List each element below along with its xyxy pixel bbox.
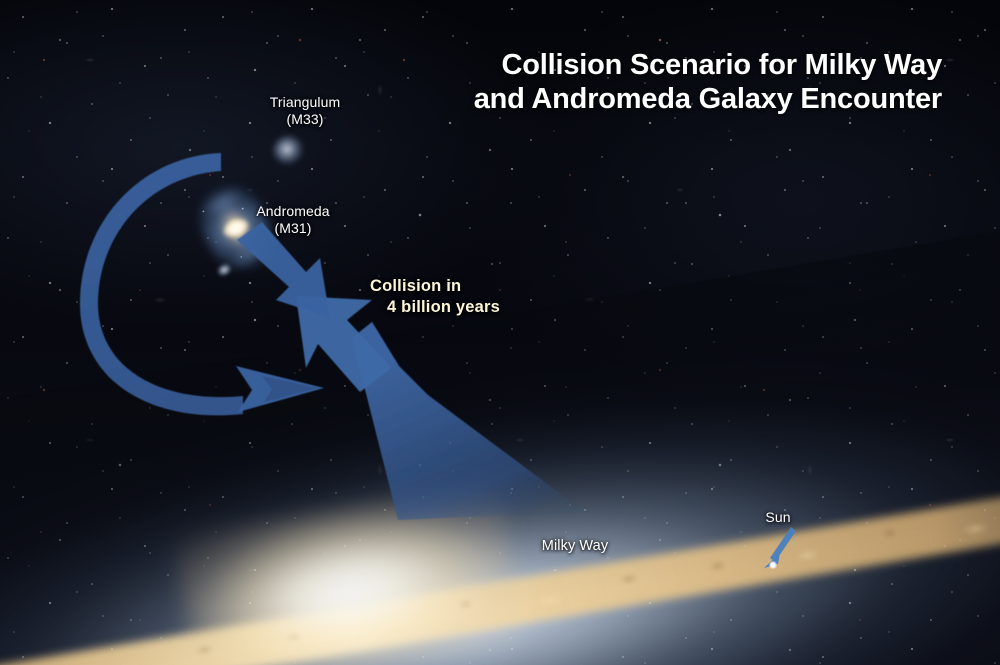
label-sun: Sun bbox=[728, 509, 828, 526]
page-title: Collision Scenario for Milky Way and And… bbox=[382, 48, 942, 116]
milky-way-approach-cone bbox=[296, 296, 585, 520]
label-collision-time: Collision in 4 billion years bbox=[370, 276, 500, 319]
label-triangulum: Triangulum (M33) bbox=[230, 94, 380, 128]
collision-line-1: Collision in bbox=[370, 277, 461, 295]
collision-line-2: 4 billion years bbox=[370, 297, 500, 318]
astronomy-illustration: Collision Scenario for Milky Way and And… bbox=[0, 0, 1000, 665]
label-milky-way: Milky Way bbox=[505, 538, 645, 556]
sun-marker-dot bbox=[769, 561, 777, 569]
label-andromeda: Andromeda (M31) bbox=[218, 203, 368, 237]
title-line-1: Collision Scenario for Milky Way bbox=[501, 49, 942, 81]
title-line-2: and Andromeda Galaxy Encounter bbox=[382, 82, 942, 116]
